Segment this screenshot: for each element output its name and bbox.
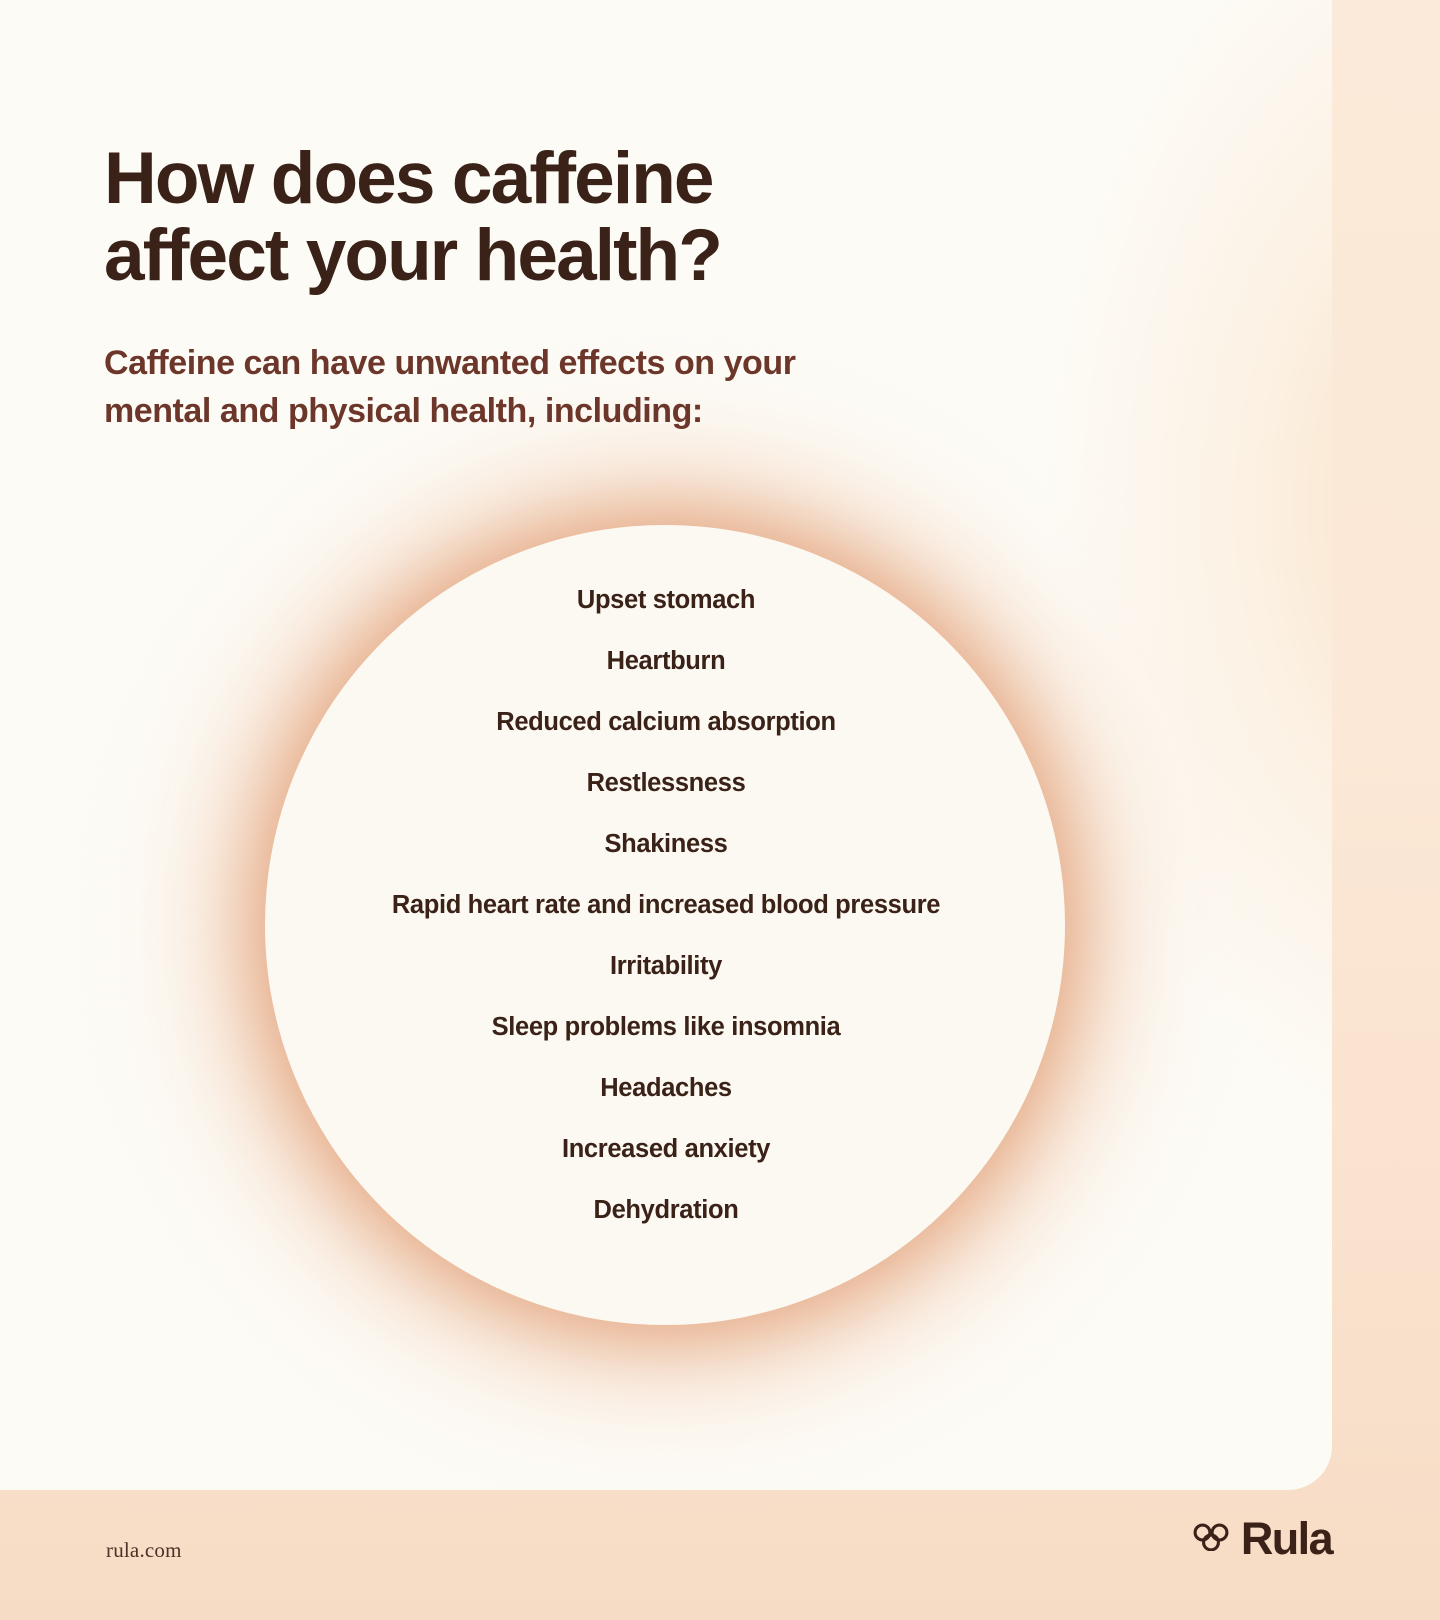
list-item: Increased anxiety (0, 1137, 1332, 1163)
symptom-list: Upset stomach Heartburn Reduced calcium … (0, 588, 1332, 1224)
list-item: Dehydration (0, 1198, 1332, 1224)
rula-wordmark: Rula (1241, 1516, 1332, 1561)
list-item: Reduced calcium absorption (0, 710, 1332, 736)
list-item: Rapid heart rate and increased blood pre… (0, 893, 1332, 919)
content-card: How does caffeine affect your health? Ca… (0, 0, 1332, 1490)
rula-trefoil-icon (1192, 1521, 1234, 1556)
list-item: Upset stomach (0, 588, 1332, 614)
list-item: Irritability (0, 954, 1332, 980)
page-title: How does caffeine affect your health? (104, 140, 1064, 294)
list-item: Shakiness (0, 832, 1332, 858)
list-item: Sleep problems like insomnia (0, 1015, 1332, 1041)
footer: rula.com Rula (0, 1490, 1440, 1620)
site-url-text: rula.com (106, 1538, 182, 1563)
list-item: Heartburn (0, 649, 1332, 675)
list-item: Restlessness (0, 771, 1332, 797)
rula-logo: Rula (1192, 1516, 1332, 1561)
page-background: How does caffeine affect your health? Ca… (0, 0, 1440, 1620)
list-item: Headaches (0, 1076, 1332, 1102)
header: How does caffeine affect your health? Ca… (104, 140, 1064, 435)
page-subtitle: Caffeine can have unwanted effects on yo… (104, 340, 1004, 435)
